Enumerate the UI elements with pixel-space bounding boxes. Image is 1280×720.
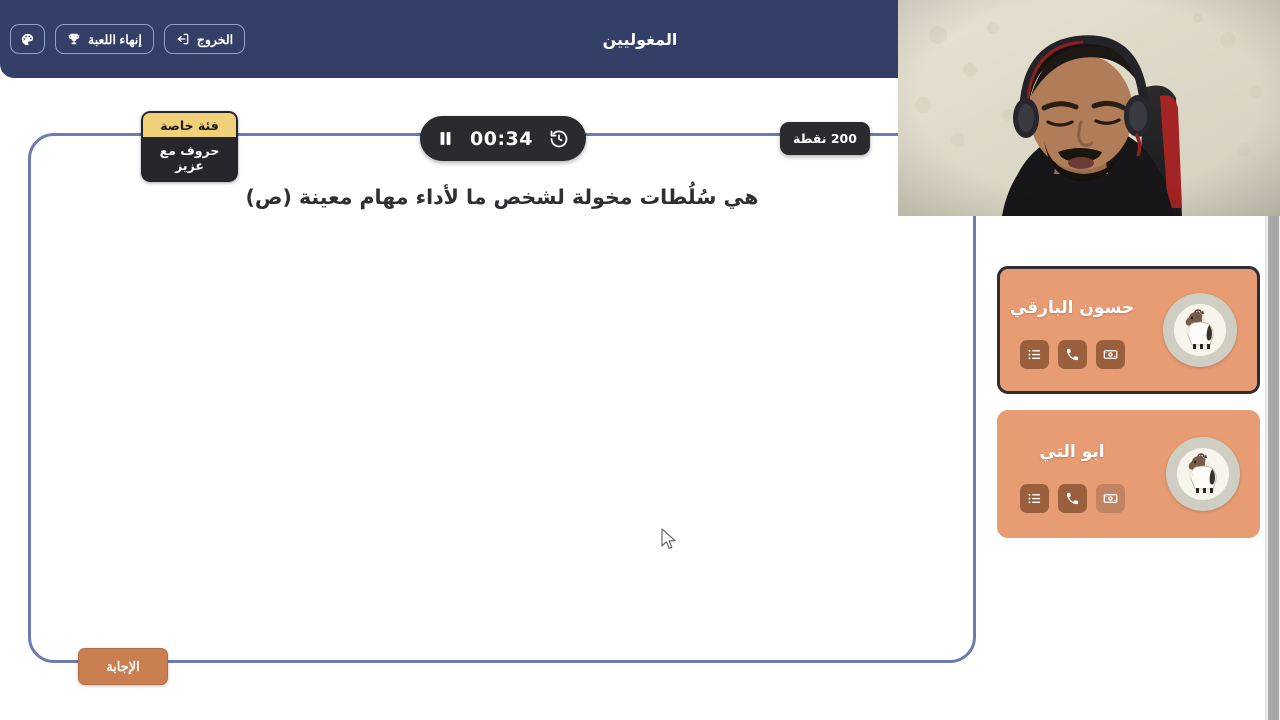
timer-value: 00:34 (470, 128, 533, 150)
exit-button[interactable]: الخروج (164, 24, 245, 54)
exit-icon (176, 32, 190, 46)
header-button-group: الخروج إنهاء اللعبة (10, 24, 245, 54)
team-name: ابو التي (997, 442, 1148, 462)
phone-icon[interactable] (1058, 484, 1087, 513)
category-badge: فئة خاصة حروف مع عزيز (141, 111, 238, 182)
avatar (1166, 437, 1240, 511)
list-icon[interactable] (1020, 340, 1049, 369)
team-name: حسون البارقي (1000, 298, 1145, 318)
team-actions (1000, 340, 1145, 369)
list-icon[interactable] (1020, 484, 1049, 513)
teams-sidebar: حسون البارقي (988, 216, 1268, 720)
pause-icon[interactable] (437, 129, 454, 148)
team-info: ابو التي (997, 410, 1154, 538)
team-actions (997, 484, 1148, 513)
avatar (1163, 293, 1237, 367)
scrollbar-thumb[interactable] (1268, 216, 1279, 720)
end-game-button[interactable]: إنهاء اللعبة (55, 24, 154, 54)
points-badge: 200 نقطة (780, 122, 870, 155)
theme-palette-button[interactable] (10, 24, 45, 54)
palette-icon (20, 32, 35, 47)
team-card[interactable]: ابو التي (997, 410, 1260, 538)
phone-icon[interactable] (1058, 340, 1087, 369)
history-reset-icon[interactable] (549, 129, 569, 149)
category-badge-bottom: حروف مع عزيز (141, 137, 238, 182)
category-badge-top: فئة خاصة (141, 111, 238, 137)
end-game-button-label: إنهاء اللعبة (88, 32, 142, 47)
trophy-icon (67, 32, 81, 46)
exit-button-label: الخروج (197, 32, 233, 47)
webcam-overlay (898, 0, 1280, 216)
app-root: المغوليين الخروج إنهاء اللعبة (0, 0, 1280, 720)
money-icon[interactable] (1096, 340, 1125, 369)
question-text: هي سُلُطات مخولة لشخص ما لأداء مهام معين… (28, 185, 976, 209)
page-scrollbar[interactable] (1265, 216, 1280, 720)
team-card[interactable]: حسون البارقي (997, 266, 1260, 394)
timer-pill: 00:34 (420, 116, 586, 161)
show-answer-button[interactable]: الإجابة (78, 648, 168, 685)
team-info: حسون البارقي (1000, 269, 1151, 391)
question-panel (28, 133, 976, 663)
money-icon[interactable] (1096, 484, 1125, 513)
